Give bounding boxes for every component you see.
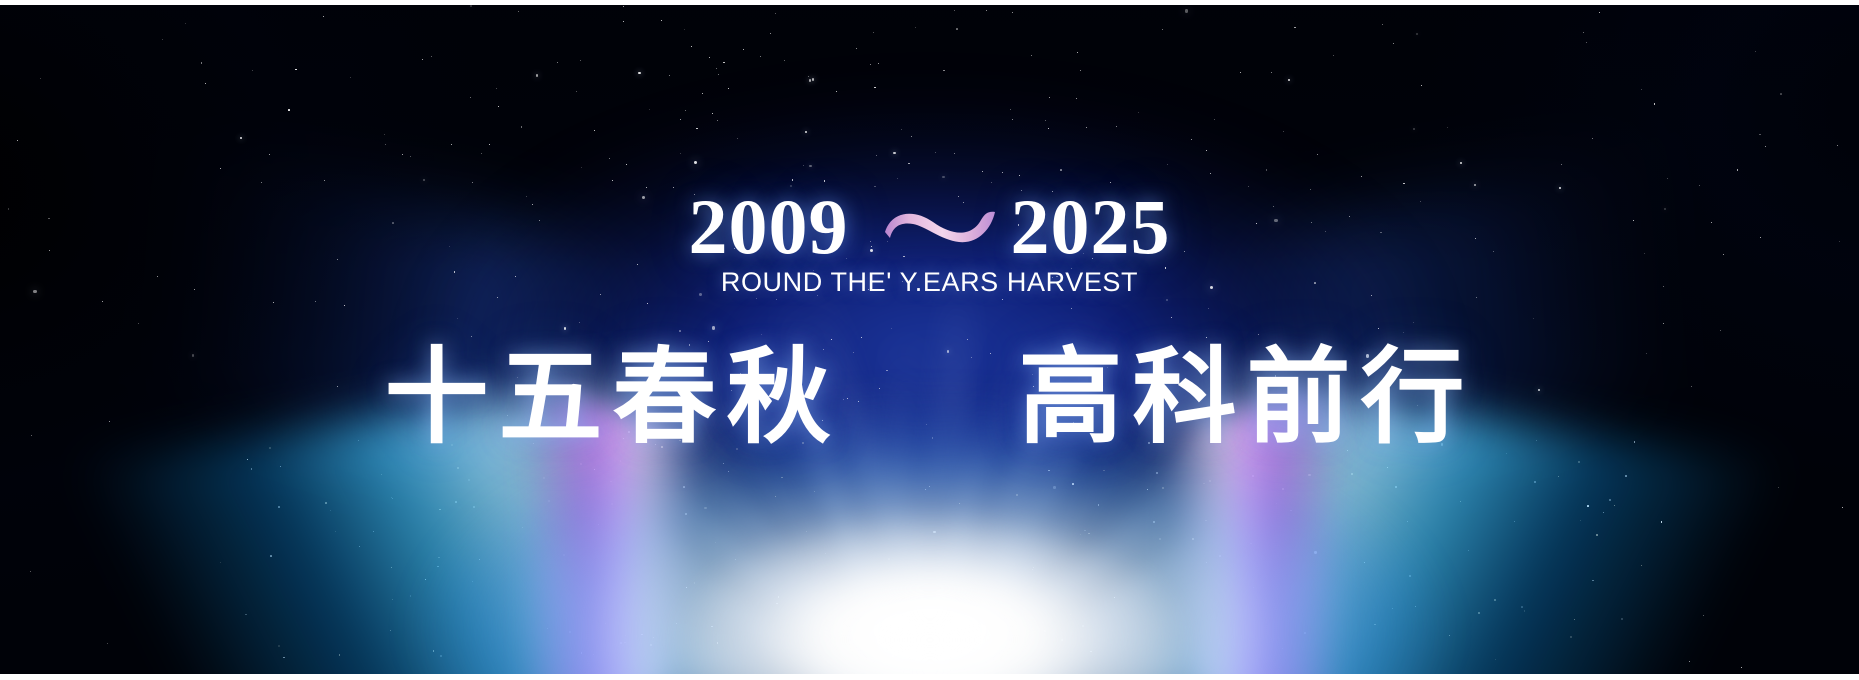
top-white-strip — [0, 0, 1859, 5]
headline-left: 十五春秋 — [384, 336, 840, 459]
headline-right: 高科前行 — [1019, 336, 1475, 459]
banner-content: 2009 2025 ROUND — [0, 0, 1859, 680]
year-end: 2025 — [1011, 188, 1171, 266]
tilde-separator-icon — [877, 188, 1005, 266]
banner-subtitle: ROUND THE' Y.EARS HARVEST — [721, 267, 1138, 298]
bottom-white-strip — [0, 674, 1859, 680]
anniversary-banner: 2009 2025 ROUND — [0, 0, 1859, 680]
year-range: 2009 2025 — [689, 188, 1171, 266]
headline-row: 十五春秋 高科前行 — [384, 336, 1474, 459]
year-start: 2009 — [689, 188, 849, 266]
